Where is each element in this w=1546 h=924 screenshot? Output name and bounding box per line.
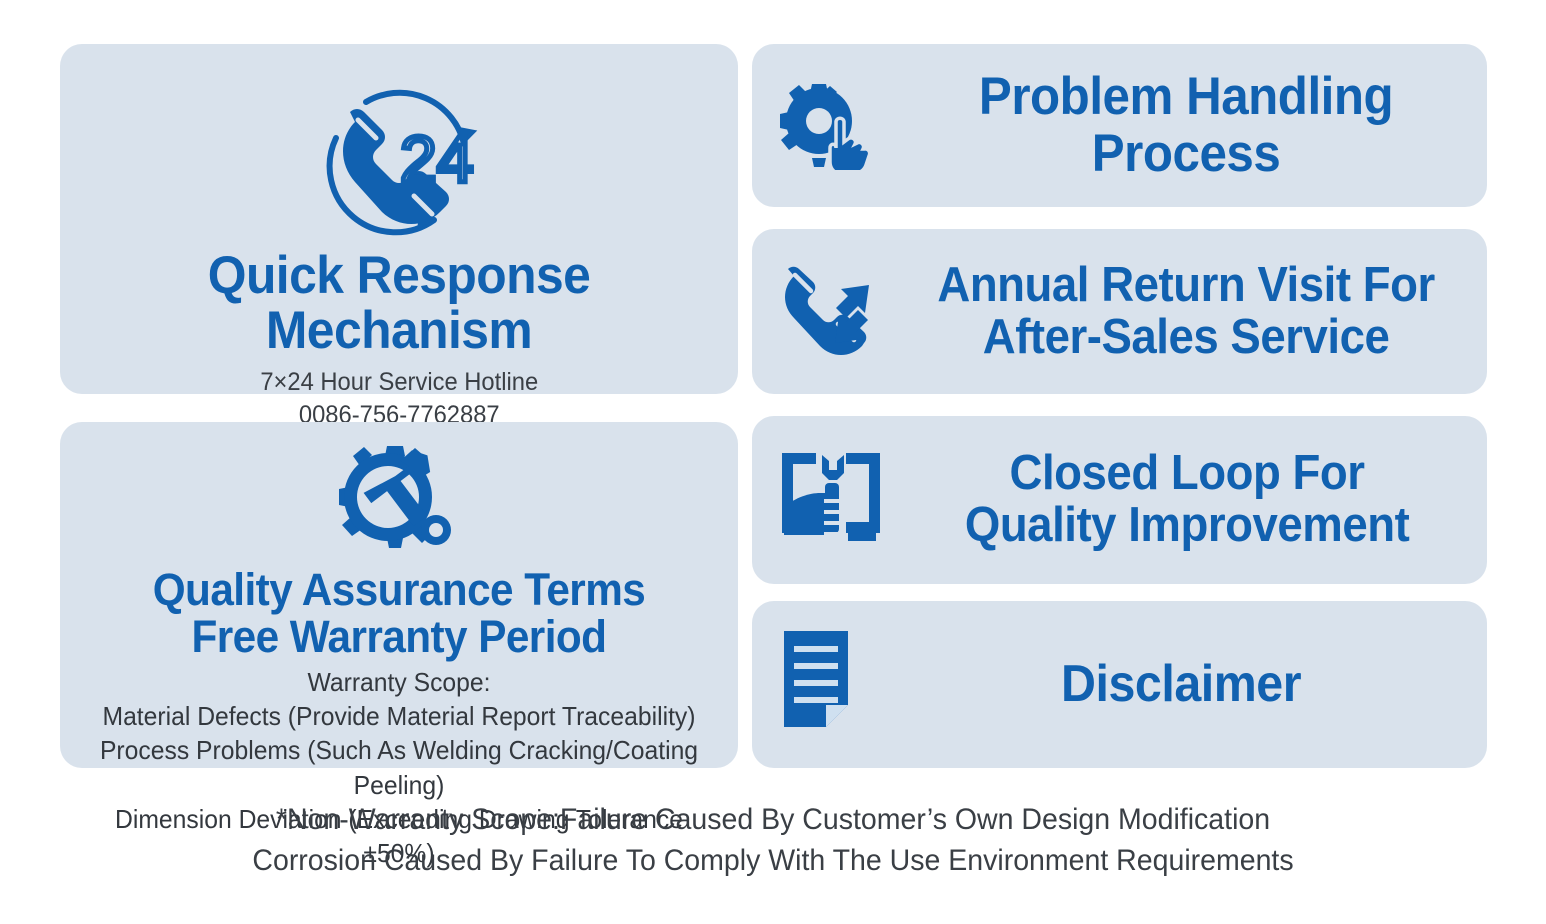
phone-24h-icon: 24 [314, 88, 484, 236]
card-quality-assurance: Quality Assurance Terms Free Warranty Pe… [60, 422, 738, 768]
gear-hand-click-icon [778, 82, 882, 170]
hand-wrench-frame-icon [778, 449, 884, 551]
gear-wrench-icon [335, 444, 463, 561]
card-problem-handling-title: Problem Handling Process [921, 69, 1467, 181]
card-annual-return: Annual Return Visit For After-Sales Serv… [752, 229, 1487, 394]
card-closed-loop: Closed Loop For Quality Improvement [752, 416, 1487, 584]
card-quick-response: 24 Quick Response Mechanism 7×24 Hour Se… [60, 44, 738, 394]
non-warranty-note: *Non-Warranty Scope:Failure Caused By Cu… [39, 800, 1508, 882]
infographic-page: 24 Quick Response Mechanism 7×24 Hour Se… [0, 0, 1546, 924]
card-quick-response-title: Quick Response Mechanism [80, 248, 717, 358]
document-lines-icon [778, 629, 872, 741]
phone-return-arrows-icon [778, 264, 882, 360]
card-annual-return-title: Annual Return Visit For After-Sales Serv… [921, 260, 1467, 364]
card-quality-assurance-title: Quality Assurance Terms Free Warranty Pe… [153, 567, 645, 661]
card-problem-handling: Problem Handling Process [752, 44, 1487, 207]
card-disclaimer: Disclaimer [752, 601, 1487, 768]
card-disclaimer-title: Disclaimer [911, 657, 1466, 712]
svg-text:24: 24 [400, 122, 473, 196]
card-closed-loop-title: Closed Loop For Quality Improvement [922, 448, 1466, 552]
